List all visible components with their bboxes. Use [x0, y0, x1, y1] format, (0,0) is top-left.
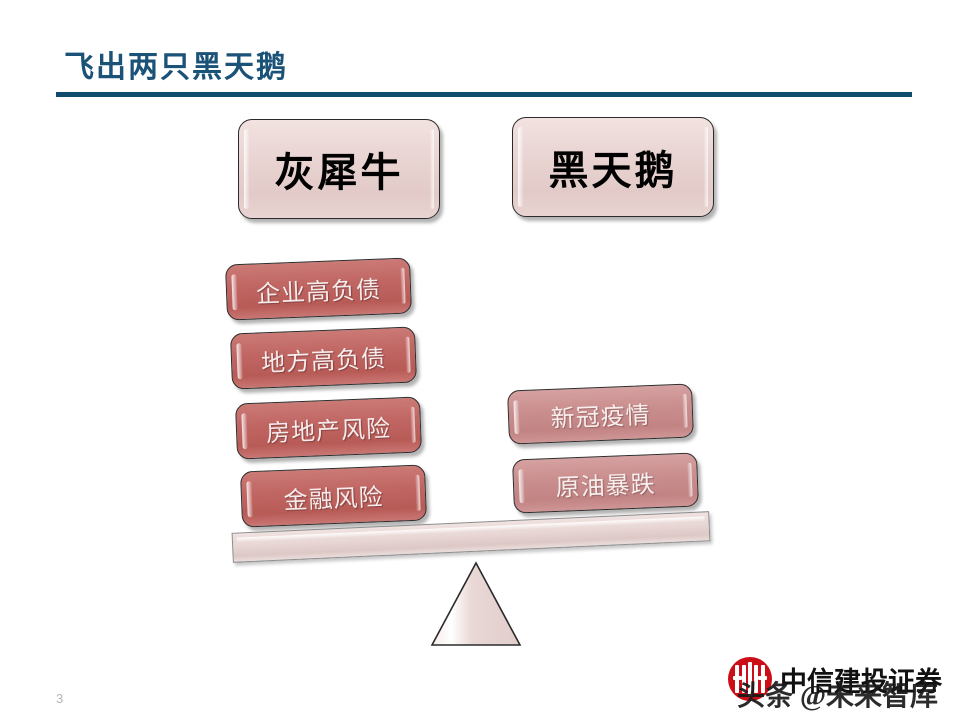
plaque-highlight-left — [518, 469, 524, 503]
page-number: 3 — [56, 691, 63, 706]
plaque-highlight-right — [410, 407, 415, 443]
plaque-highlight-right — [682, 394, 687, 428]
plaque-highlight-right — [400, 268, 405, 304]
balance-fulcrum-icon — [430, 560, 522, 648]
risk-label-left-2: 地方高负债 — [260, 338, 386, 378]
category-plaque-grey-rhino[interactable]: 灰犀牛 — [238, 119, 440, 219]
plaque-highlight-left — [241, 413, 247, 449]
plaque-highlight-left — [244, 129, 249, 209]
plaque-highlight-right — [704, 127, 708, 207]
plaque-highlight-right — [687, 463, 692, 497]
risk-plaque-right-2[interactable]: 原油暴跌 — [512, 452, 699, 513]
risk-plaque-left-4[interactable]: 金融风险 — [240, 464, 427, 527]
category-label-grey-rhino: 灰犀牛 — [275, 140, 404, 198]
plaque-highlight-right — [415, 475, 420, 511]
risk-label-right-2: 原油暴跌 — [555, 464, 656, 503]
category-plaque-black-swan[interactable]: 黑天鹅 — [512, 117, 714, 217]
category-label-black-swan: 黑天鹅 — [549, 138, 678, 196]
plaque-highlight-right — [430, 129, 434, 209]
risk-label-left-4: 金融风险 — [283, 477, 384, 516]
plaque-highlight-left — [236, 343, 242, 379]
risk-label-right-1: 新冠疫情 — [550, 395, 651, 434]
plaque-highlight-left — [513, 400, 519, 434]
plaque-highlight-right — [405, 337, 410, 373]
risk-plaque-left-3[interactable]: 房地产风险 — [235, 396, 422, 459]
plaque-highlight-left — [231, 274, 237, 310]
risk-plaque-left-1[interactable]: 企业高负债 — [225, 257, 412, 320]
risk-label-left-3: 房地产风险 — [265, 408, 391, 448]
risk-plaque-left-2[interactable]: 地方高负债 — [230, 326, 417, 389]
risk-label-left-1: 企业高负债 — [255, 269, 381, 309]
risk-plaque-right-1[interactable]: 新冠疫情 — [507, 383, 694, 444]
title-divider — [56, 92, 912, 97]
watermark-text: 头条 @未来智库 — [737, 674, 938, 714]
plaque-highlight-left — [518, 127, 523, 207]
page-title: 飞出两只黑天鹅 — [64, 42, 288, 86]
plaque-highlight-left — [246, 481, 252, 517]
slide-canvas: 飞出两只黑天鹅 灰犀牛 黑天鹅 企业高负债 地方高负债 房地产风险 金融风险 新… — [0, 0, 960, 720]
